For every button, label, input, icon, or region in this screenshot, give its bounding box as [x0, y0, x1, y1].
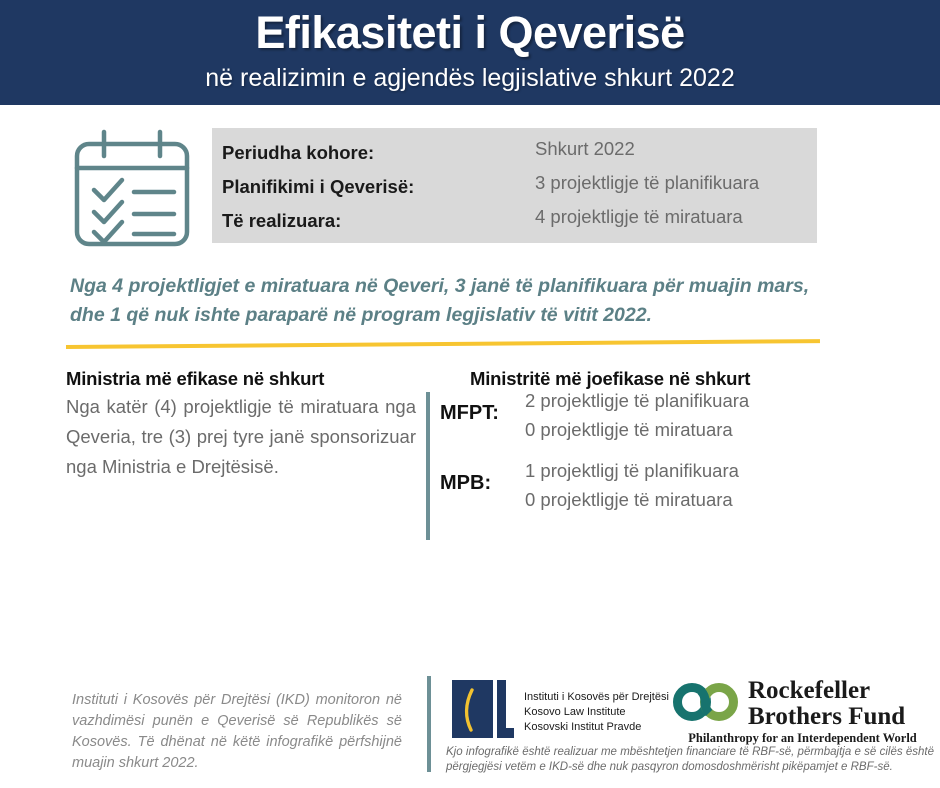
summary-value-planned: 3 projektligje të planifikuara [535, 166, 815, 200]
summary-label-planned: Planifikimi i Qeverisë: [222, 170, 522, 204]
ministry-planned-mfpt: 2 projektligje të planifikuara [525, 386, 855, 415]
ministry-list: MFPT: 2 projektligje të planifikuara 0 p… [440, 386, 860, 526]
left-column-body: Nga katër (4) projektligje të miratuara … [66, 392, 416, 482]
rockefeller-infinity-logo [671, 679, 741, 725]
ministry-row: MFPT: 2 projektligje të planifikuara 0 p… [440, 386, 860, 456]
summary-label-column: Periudha kohore: Planifikimi i Qeverisë:… [222, 136, 522, 238]
highlight-paragraph: Nga 4 projektligjet e miratuara në Qever… [70, 272, 810, 330]
footer-note: Instituti i Kosovës për Drejtësi (IKD) m… [72, 690, 402, 774]
ministry-values-mpb: 1 projektligj të planifikuara 0 projektl… [525, 456, 855, 514]
ministry-planned-mpb: 1 projektligj të planifikuara [525, 456, 855, 485]
page-subtitle: në realizimin e agjendës legjislative sh… [0, 63, 940, 93]
summary-label-period: Periudha kohore: [222, 136, 522, 170]
checklist-calendar-icon [68, 128, 200, 250]
ministry-approved-mfpt: 0 projektligje të miratuara [525, 415, 855, 444]
rockefeller-brothers-fund-name: Rockefeller Brothers Fund [748, 678, 938, 730]
funding-disclaimer: Kjo infografikë është realizuar me mbësh… [446, 745, 934, 775]
footer-divider [427, 676, 431, 772]
ministry-row: MPB: 1 projektligj të planifikuara 0 pro… [440, 456, 860, 526]
summary-label-realized: Të realizuara: [222, 204, 522, 238]
column-divider [426, 392, 430, 540]
summary-value-column: Shkurt 2022 3 projektligje të planifikua… [535, 132, 815, 234]
header-banner: Efikasiteti i Qeverisë në realizimin e a… [0, 0, 940, 105]
rbf-name-line2: Brothers Fund [748, 704, 938, 730]
ministry-values-mfpt: 2 projektligje të planifikuara 0 projekt… [525, 386, 855, 444]
ministry-name-mfpt: MFPT: [440, 402, 499, 425]
ikd-logo [452, 680, 514, 738]
left-column-heading: Ministria më efikase në shkurt [66, 368, 324, 390]
ministry-approved-mpb: 0 projektligje të miratuara [525, 485, 855, 514]
ministry-name-mpb: MPB: [440, 472, 491, 495]
page-title: Efikasiteti i Qeverisë [0, 6, 940, 60]
summary-value-realized: 4 projektligje të miratuara [535, 200, 815, 234]
rockefeller-tagline: Philanthropy for an Interdependent World [665, 731, 940, 746]
yellow-divider [66, 339, 820, 349]
rbf-name-line1: Rockefeller [748, 678, 938, 704]
summary-value-period: Shkurt 2022 [535, 132, 815, 166]
